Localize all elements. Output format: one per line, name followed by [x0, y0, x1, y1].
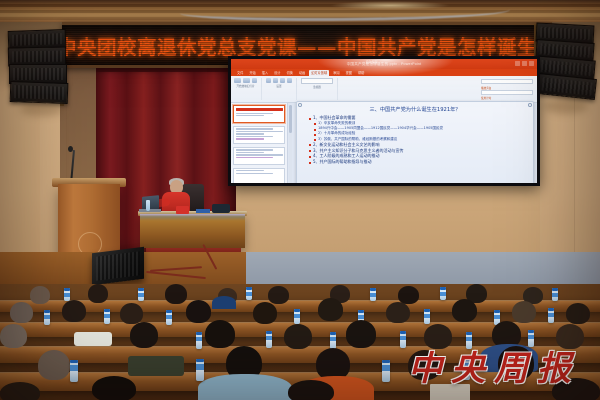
slide-title: 三、中国共产党为什么诞生在1921年？: [302, 106, 528, 113]
auditorium-photo: 中央团校离退休党总支党课——中国共产党是怎样诞生的 自动保存 中国共产党是怎样诞…: [0, 0, 600, 400]
desk-telephone: [212, 204, 230, 213]
audience-head: [288, 380, 334, 400]
ribbon-check-label: 使用计时: [481, 96, 533, 100]
water-bottle: [294, 309, 300, 324]
microphone-head-icon: [68, 146, 73, 152]
powerpoint-titlebar: 自动保存 中国共产党是怎样诞生的.pptx - PowerPoint: [231, 59, 537, 69]
monitor-select[interactable]: [301, 78, 333, 84]
slide-thumbnail[interactable]: [233, 168, 285, 183]
slide-canvas[interactable]: 三、中国共产党为什么诞生在1921年？ 1、中国社会革命的需要 1）辛亥革命失败…: [293, 103, 537, 183]
bullet-dot-icon: [309, 118, 311, 120]
watermark-char: 报: [537, 352, 571, 386]
ribbon[interactable]: 开始放映幻灯片 设置 监视器 播放旁白: [231, 76, 537, 103]
water-bottle: [44, 310, 50, 325]
audience-head: [10, 302, 33, 323]
audience-head: [398, 286, 419, 304]
water-bottle: [370, 288, 376, 301]
audience-head: [205, 320, 235, 348]
water-bottle: [104, 309, 110, 324]
audience-head: [424, 324, 452, 349]
audience-bag: [74, 332, 112, 346]
desk-folder: [196, 209, 210, 213]
water-bottle: [466, 332, 472, 349]
from-current-slide-icon[interactable]: [243, 78, 250, 83]
watermark: 中 央 周 报: [408, 352, 571, 386]
rehearse-timings-icon[interactable]: [280, 78, 285, 83]
slide-bullet-text: 2）十月革命的成功经验: [318, 132, 355, 136]
water-bottle: [196, 359, 204, 381]
window-controls[interactable]: [515, 61, 534, 66]
audience-head: [268, 286, 289, 304]
document-title: 中国共产党是怎样诞生的.pptx - PowerPoint: [347, 62, 422, 67]
slide-thumbnail-pane[interactable]: [231, 103, 288, 183]
audience-shoulders: [198, 374, 292, 400]
water-bottle: [400, 331, 406, 348]
speaker-shadow-right: [544, 98, 588, 114]
laptop-base: [139, 209, 161, 212]
slide-bullet-text: 4、工人阶级的成熟和工人运动的推动: [313, 154, 380, 158]
slide-bullet: 2）十月革命的成功经验: [302, 132, 528, 136]
record-slideshow-icon[interactable]: [287, 78, 292, 83]
speaker-desk: [140, 214, 245, 248]
audience-head: [0, 382, 40, 400]
water-bottle: [266, 331, 272, 348]
desk-water-bottle: [146, 200, 150, 211]
present-online-icon[interactable]: [252, 78, 257, 83]
audience-head: [30, 286, 50, 304]
water-bottle: [424, 309, 430, 324]
bullet-dot-icon: [314, 123, 316, 125]
audience-head: [92, 376, 136, 400]
ribbon-group-start-slideshow[interactable]: 开始放映幻灯片: [234, 78, 262, 100]
watermark-char: 央: [451, 352, 485, 386]
powerpoint-window: 自动保存 中国共产党是怎样诞生的.pptx - PowerPoint 文件 开始…: [231, 59, 537, 183]
water-bottle: [138, 288, 144, 301]
slide-thumbnail[interactable]: [233, 126, 285, 144]
slide-bullet: 5、共产国际的帮助和指导与推动: [302, 160, 528, 164]
red-cup: [176, 206, 189, 214]
audience-head: [318, 298, 343, 321]
stage-monitor-speaker: [92, 247, 144, 285]
slide-bullet-text: 2、新文化运动和社会主义文艺的影响: [313, 143, 380, 147]
current-slide[interactable]: 三、中国共产党为什么诞生在1921年？ 1、中国社会革命的需要 1）辛亥革命失败…: [296, 101, 534, 183]
watermark-char: 周: [494, 352, 528, 386]
use-timings-checkbox[interactable]: [481, 90, 533, 95]
ribbon-group-setup[interactable]: 设置: [266, 78, 297, 100]
slide-bullet-text: 3）苏俄、共产国际的帮助，维经斯基的考察和建议: [318, 138, 397, 142]
ribbon-group-label: 监视器: [313, 85, 321, 89]
thumbnail-scrollbar[interactable]: [289, 105, 292, 183]
speaker-grill: [96, 251, 140, 280]
slide-bullet-text: 1）辛亥革命失败的教训: [318, 122, 355, 126]
water-bottle: [382, 360, 390, 382]
bullet-dot-icon: [309, 156, 311, 158]
ribbon-tabs[interactable]: 文件 开始 插入 设计 切换 动画 幻灯片放映 审阅 视图 帮助: [231, 69, 537, 76]
audience-head: [0, 324, 27, 348]
audience-head: [62, 300, 86, 322]
slide-bullet: 1）辛亥革命失败的教训: [302, 122, 528, 126]
bullet-dot-icon: [314, 129, 316, 131]
hide-slide-icon[interactable]: [273, 78, 278, 83]
minimize-icon[interactable]: [515, 61, 520, 66]
ribbon-group-label: 开始放映幻灯片: [236, 84, 254, 88]
audience-head: [165, 284, 187, 304]
bullet-dot-icon: [309, 150, 311, 152]
water-bottle: [330, 332, 336, 349]
ribbon-checkbox-column[interactable]: 播放旁白 使用计时: [481, 79, 533, 100]
ribbon-group-label: 设置: [276, 84, 281, 88]
water-bottle: [440, 287, 446, 300]
quick-access-toolbar[interactable]: 自动保存: [366, 60, 378, 64]
bullet-dot-icon: [314, 139, 316, 141]
slide-bullet: 1、中国社会革命的需要: [302, 116, 528, 120]
slide-bullet: 3）苏俄、共产国际的帮助，维经斯基的考察和建议: [302, 138, 528, 142]
water-bottle: [196, 332, 202, 349]
bullet-dot-icon: [309, 144, 311, 146]
projection-screen: 自动保存 中国共产党是怎样诞生的.pptx - PowerPoint 文件 开始…: [228, 56, 540, 186]
audience-head: [566, 303, 590, 324]
water-bottle: [528, 330, 534, 347]
bullet-dot-icon: [309, 162, 311, 164]
audience-head: [386, 302, 410, 323]
from-beginning-icon[interactable]: [234, 78, 241, 83]
audience-head: [452, 299, 477, 322]
scrollbar-thumb[interactable]: [289, 105, 292, 133]
editor-body: 三、中国共产党为什么诞生在1921年？ 1、中国社会革命的需要 1）辛亥革命失败…: [231, 103, 537, 183]
slide-thumbnail[interactable]: [233, 105, 285, 123]
water-bottle: [70, 360, 78, 382]
audience-head: [253, 302, 277, 324]
bullet-dot-icon: [314, 134, 316, 136]
audience-head: [88, 284, 108, 303]
audience-head: [512, 301, 536, 323]
ribbon-group-monitors[interactable]: 监视器: [301, 78, 338, 100]
slide-bullet-text: 1、中国社会革命的需要: [313, 116, 356, 120]
slide-bullet: 2、新文化运动和社会主义文艺的影响: [302, 143, 528, 147]
water-bottle: [64, 288, 70, 301]
audience-head: [120, 303, 143, 324]
water-bottle: [166, 310, 172, 325]
restore-icon[interactable]: [522, 61, 527, 66]
water-bottle: [552, 288, 558, 301]
audience-cap: [212, 296, 236, 309]
audience-head: [284, 324, 312, 349]
watermark-char: 中: [408, 352, 442, 386]
slide-bullet: 4、工人阶级的成熟和工人运动的推动: [302, 154, 528, 158]
slide-bullet-text: 5、共产国际的帮助和指导与推动: [313, 160, 372, 164]
audience-head: [346, 320, 376, 348]
play-narrations-checkbox[interactable]: [481, 79, 533, 84]
slide-thumbnail[interactable]: [233, 147, 285, 165]
audience-head: [38, 350, 70, 380]
water-bottle: [548, 308, 554, 323]
audience-head: [186, 300, 211, 323]
ceiling-light-glow: [330, 1, 450, 10]
audience-bag: [128, 356, 184, 376]
audience-desk-row: [0, 300, 600, 312]
close-icon[interactable]: [529, 61, 534, 66]
setup-slideshow-icon[interactable]: [266, 78, 271, 83]
speaker-shadow-left: [20, 102, 64, 116]
water-bottle: [246, 287, 252, 300]
audience-head: [556, 324, 584, 349]
audience-head: [130, 322, 158, 348]
